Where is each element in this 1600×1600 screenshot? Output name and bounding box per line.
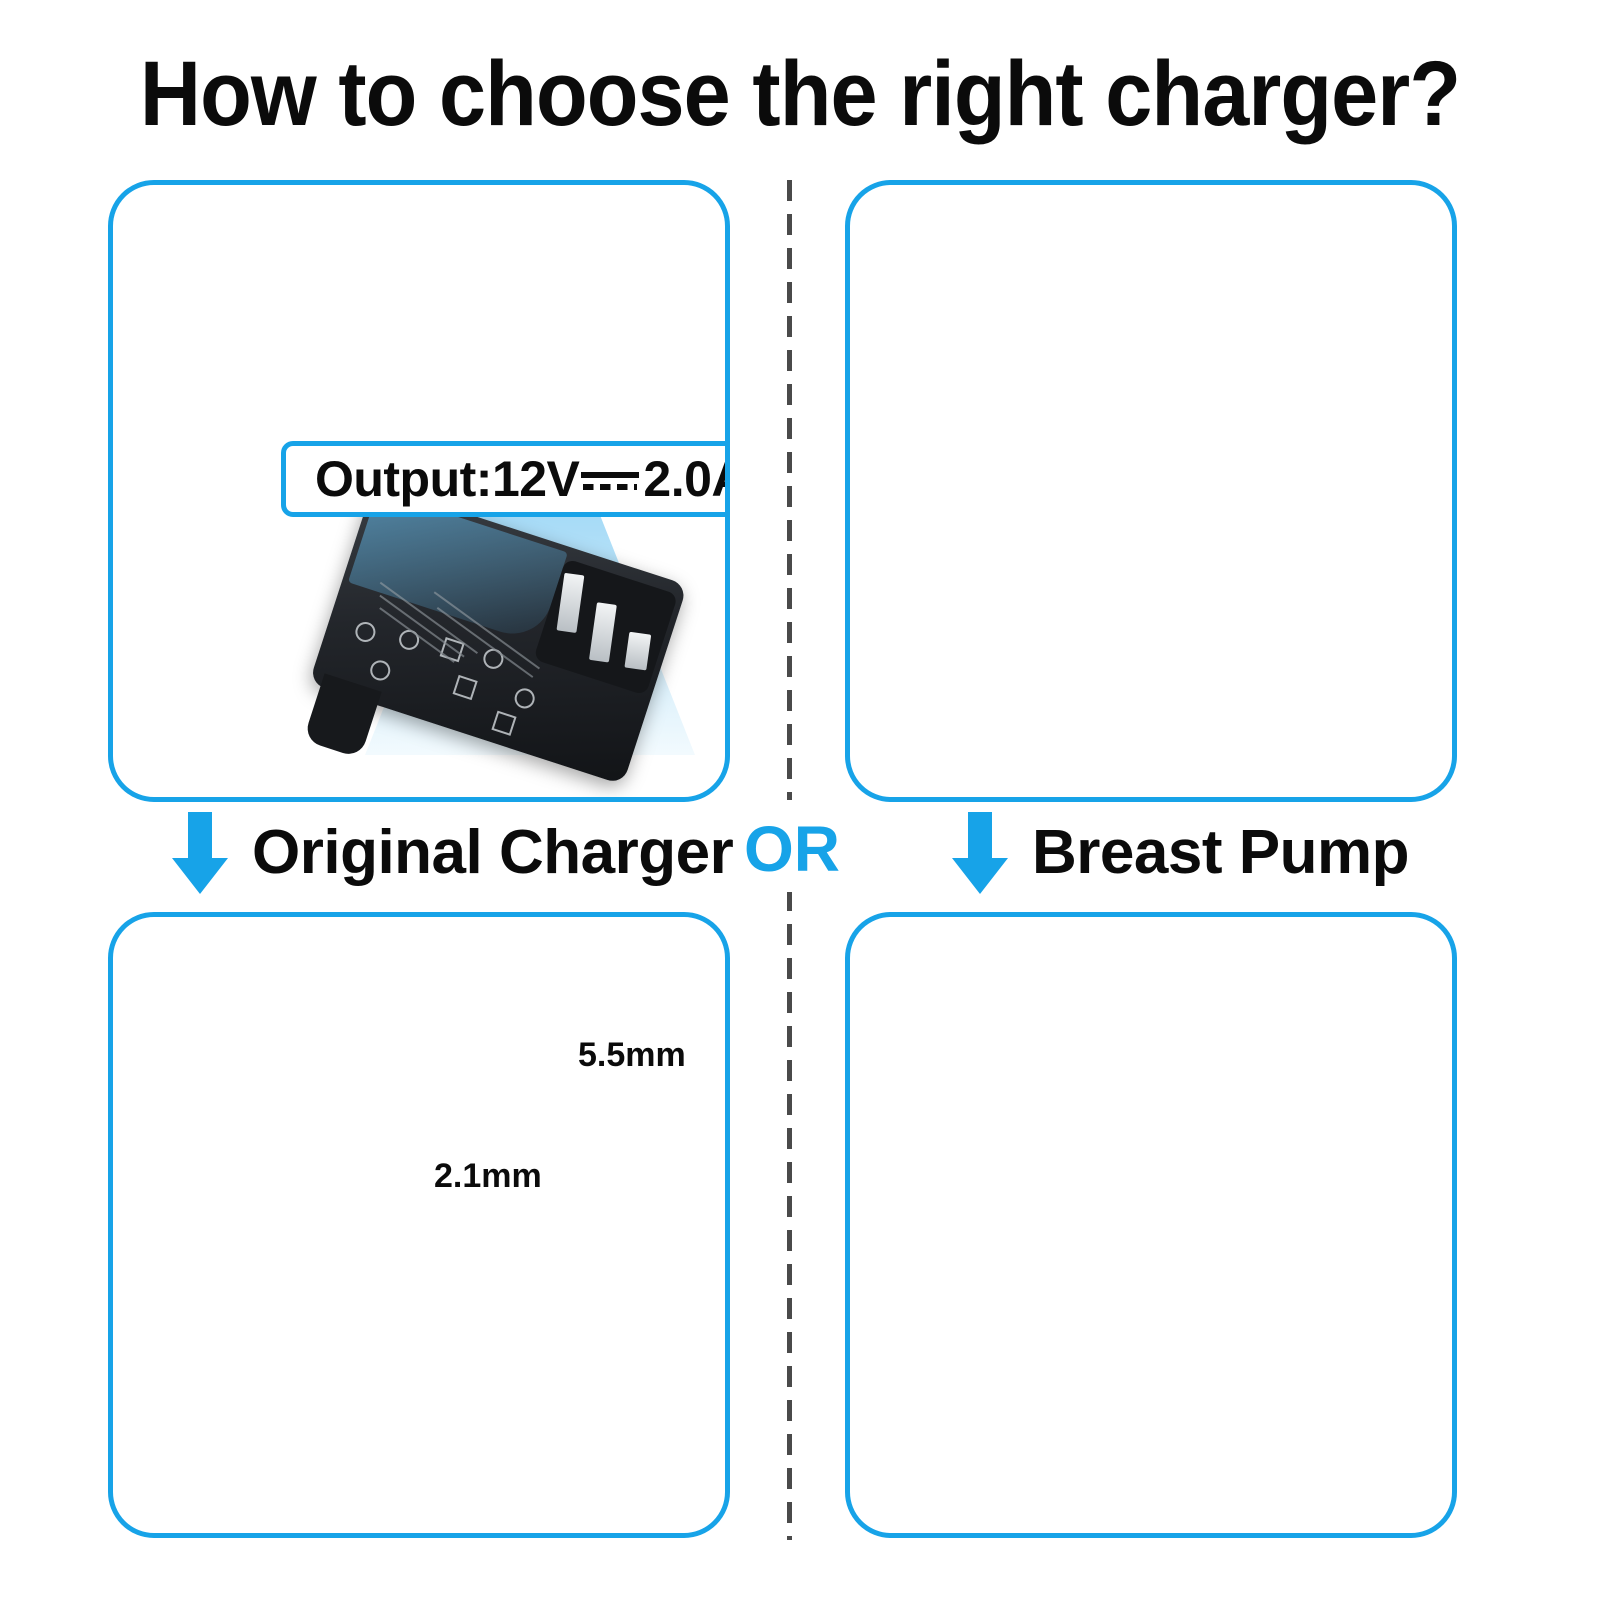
panel-breast-pump: spectra 38 0:23 L0 1 MODEL : SPECTRA S1 …: [845, 180, 1457, 802]
cta-breast-pump: Breast Pump: [950, 812, 1409, 894]
output-prefix-text: Output:12V: [315, 451, 579, 507]
output-spec-badge: Output:12V2.0A: [281, 441, 730, 517]
vertical-divider-top: [787, 180, 792, 800]
cta-label-original-charger: Original Charger: [252, 821, 733, 885]
panel-original-charger: Output:12V2.0A: [108, 180, 730, 802]
arrow-down-icon: [170, 812, 230, 894]
dimension-label-inner: 2.1mm: [434, 1158, 542, 1194]
arrow-down-icon: [950, 812, 1010, 894]
page-title: How to choose the right charger?: [64, 44, 1536, 144]
panel-pump-port: spectra 38 LU: [845, 912, 1457, 1538]
dimension-label-outer: 5.5mm: [578, 1037, 686, 1073]
output-suffix-text: 2.0A: [643, 451, 730, 507]
or-separator-label: OR: [744, 806, 836, 892]
cta-label-breast-pump: Breast Pump: [1032, 821, 1409, 885]
vertical-divider-bottom: [787, 890, 792, 1540]
cta-original-charger: Original Charger: [170, 812, 733, 894]
dc-symbol-icon: [581, 463, 641, 497]
ac-adapter-image: [272, 483, 730, 802]
panel-connector-dimensions: [108, 912, 730, 1538]
